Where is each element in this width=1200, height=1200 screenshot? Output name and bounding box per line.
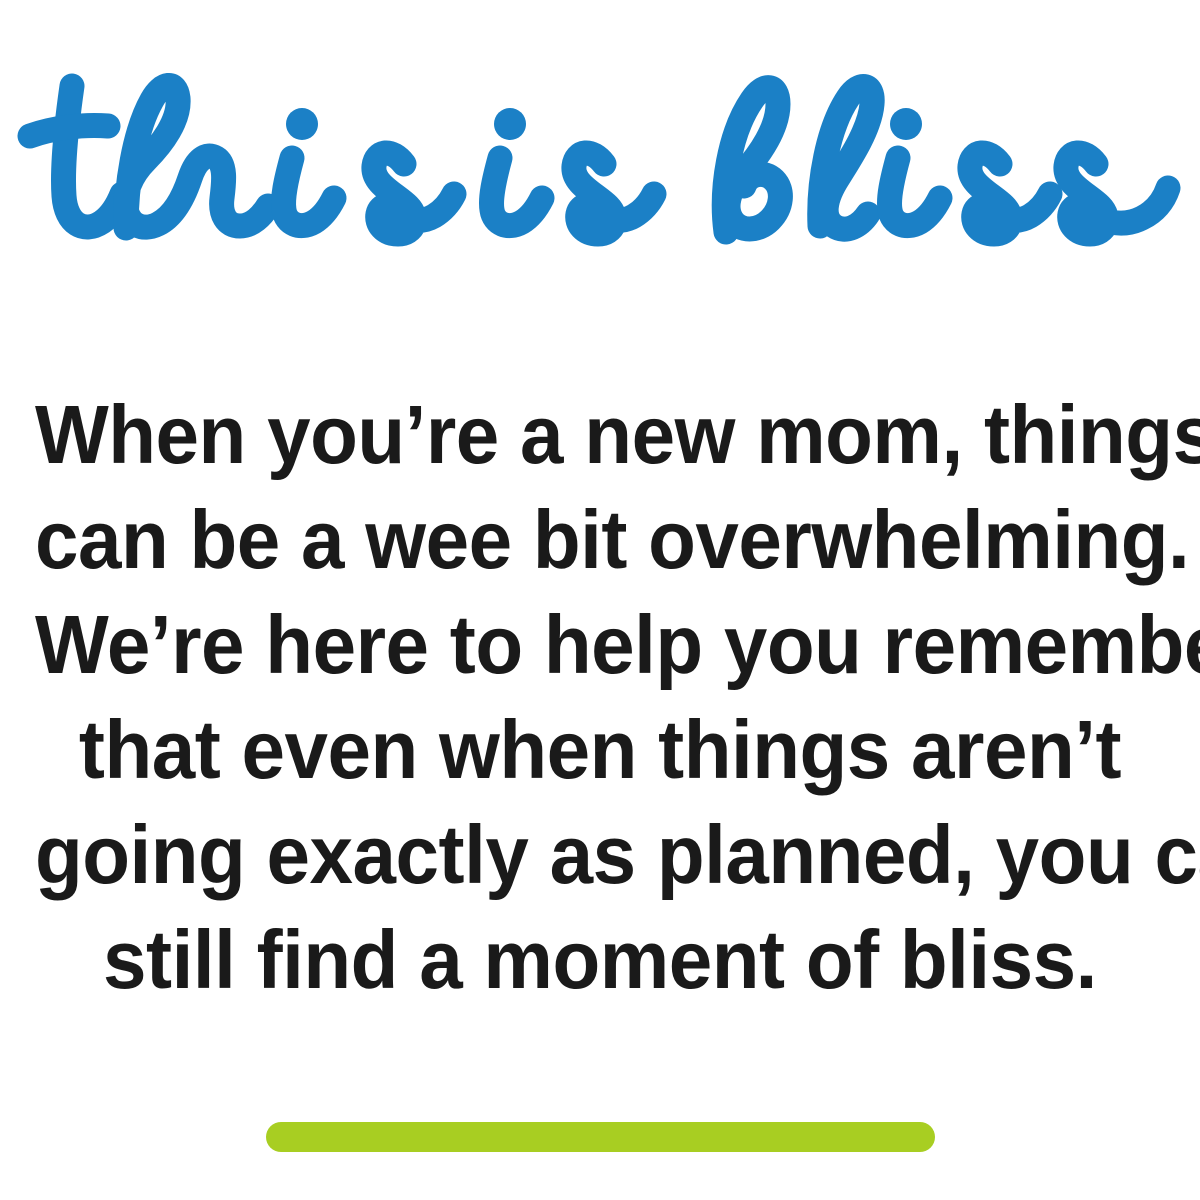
- body-line-6: still find a moment of bliss.: [35, 907, 1165, 1012]
- script-letter-s-2: [574, 153, 654, 234]
- script-letter-h: [126, 85, 268, 228]
- script-letter-i2-dot: [494, 108, 526, 140]
- script-letter-l: [820, 87, 872, 230]
- body-line-3: We’re here to help you remember: [35, 592, 1165, 697]
- script-letter-i2-stem: [491, 158, 542, 226]
- script-letter-i-dot: [286, 108, 318, 140]
- body-line-1: When you’re a new mom, things: [35, 382, 1165, 487]
- headline-script-lockup: this is bliss: [0, 28, 1200, 268]
- script-letter-b: [724, 88, 780, 232]
- script-letter-i-stem: [283, 158, 334, 226]
- script-letter-s-4: [1066, 153, 1168, 234]
- script-letter-s-1: [374, 153, 454, 234]
- body-line-2: can be a wee bit overwhelming.: [35, 487, 1165, 592]
- headline-script-svg: this is bliss: [0, 28, 1200, 268]
- body-line-4: that even when things aren’t: [35, 697, 1165, 802]
- script-letter-i3-stem: [889, 158, 940, 226]
- script-letter-s-3: [970, 153, 1050, 234]
- script-letter-i3-dot: [890, 108, 922, 140]
- script-letter-t-crossbar: [30, 125, 108, 136]
- body-line-5: going exactly as planned, you can: [35, 802, 1165, 907]
- headline-strokes: [30, 85, 1168, 234]
- body-copy-block: When you’re a new mom, things can be a w…: [0, 382, 1200, 1012]
- promo-card: this is bliss: [0, 0, 1200, 1200]
- green-rule: [266, 1122, 935, 1152]
- divider-region: [0, 1122, 1200, 1156]
